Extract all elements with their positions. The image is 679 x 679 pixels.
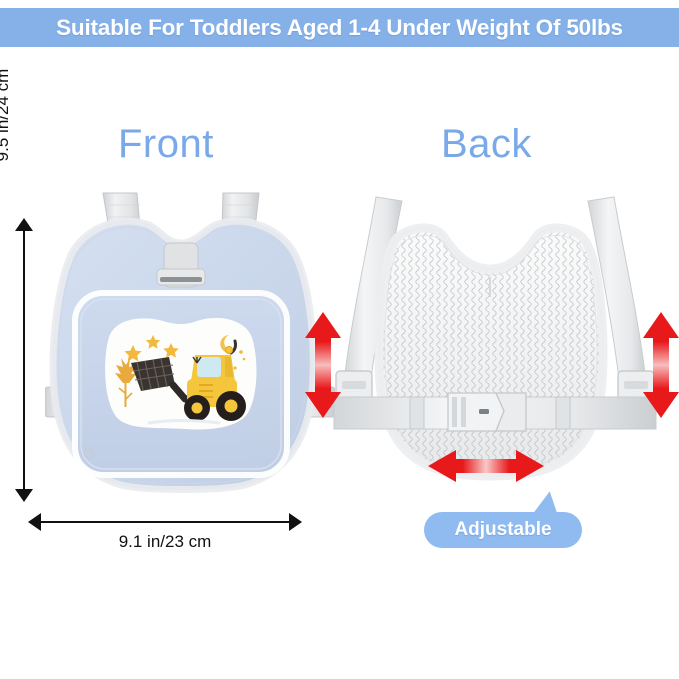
width-arrow-left-icon	[28, 513, 41, 531]
waist-adjust-arrow-icon	[428, 448, 544, 484]
adjustable-callout-label: Adjustable	[454, 519, 551, 541]
center-buckle	[448, 393, 526, 431]
header-banner: Suitable For Toddlers Aged 1-4 Under Wei…	[0, 8, 679, 47]
back-waist-belt	[334, 393, 656, 431]
height-arrow-up-icon	[15, 218, 33, 231]
bulldozer-graphic	[105, 318, 256, 430]
front-chest-clip	[157, 243, 205, 287]
front-vest-image	[45, 185, 335, 505]
adjustable-callout: Adjustable	[424, 512, 582, 548]
front-view-label: Front	[118, 122, 214, 167]
width-dimension-line	[40, 521, 290, 523]
height-arrow-down-icon	[15, 489, 33, 502]
shoulder-adjust-arrow-right-icon	[641, 312, 679, 418]
height-dimension-label: 9.5 in/24 cm	[0, 50, 13, 180]
page-title: Suitable For Toddlers Aged 1-4 Under Wei…	[56, 15, 623, 41]
shoulder-adjust-arrow-left-icon	[303, 312, 343, 418]
height-dimension-line	[23, 230, 25, 490]
width-dimension-label: 9.1 in/23 cm	[40, 532, 290, 552]
back-view-label: Back	[441, 122, 532, 167]
back-mesh-panel	[379, 228, 603, 476]
width-arrow-right-icon	[289, 513, 302, 531]
